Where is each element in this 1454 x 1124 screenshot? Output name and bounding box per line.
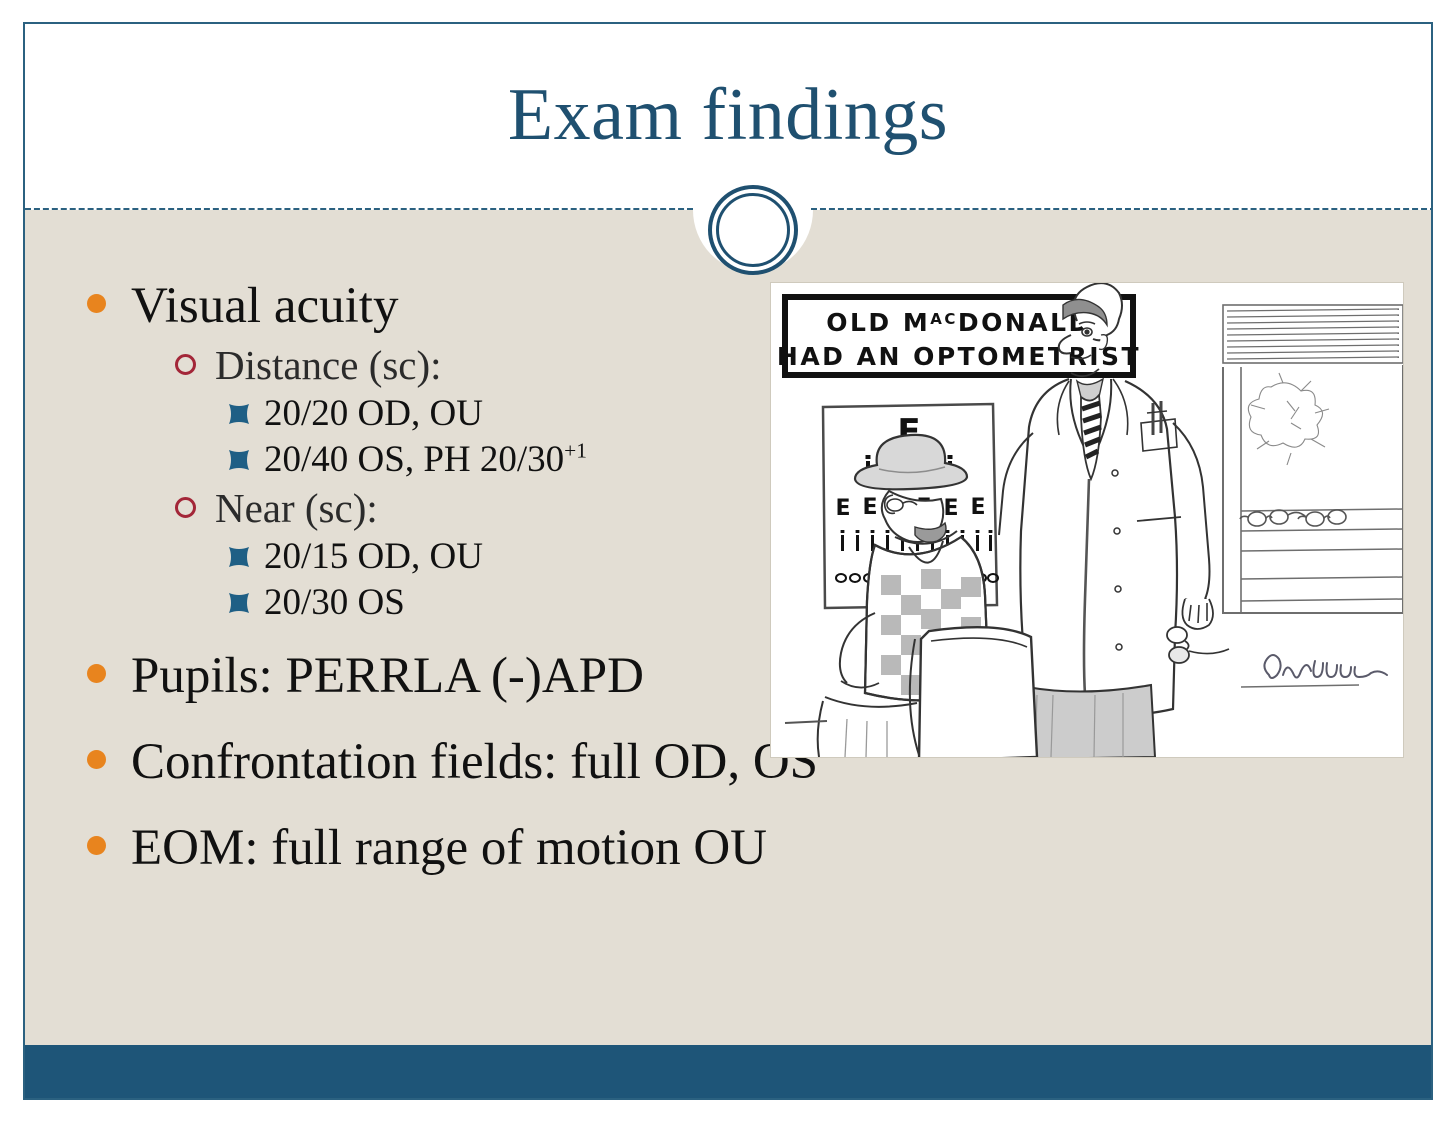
list-item: Confrontation fields: full OD, OS xyxy=(63,730,763,794)
list-item-label: 20/15 OD, OU xyxy=(63,534,763,580)
list-item: Near (sc): xyxy=(63,483,763,534)
hollow-circle-bullet-icon xyxy=(175,354,196,375)
svg-text:E: E xyxy=(835,496,850,521)
filled-disc-bullet-icon xyxy=(87,294,106,313)
list-item: Pupils: PERRLA (-)APD xyxy=(63,644,763,708)
list-item-label: Confrontation fields: full OD, OS xyxy=(63,730,763,794)
decorative-ring-inner-icon xyxy=(716,193,790,267)
four-point-star-bullet-icon xyxy=(229,450,249,470)
cartoon-image: OLD MACDONALD HAD AN OPTOMETRIST E EEE E… xyxy=(770,282,1404,758)
list-item: 20/15 OD, OU xyxy=(63,534,763,580)
list-item-label: 20/20 OD, OU xyxy=(63,391,763,437)
filled-disc-bullet-icon xyxy=(87,750,106,769)
title-zone: Exam findings xyxy=(25,24,1431,210)
four-point-star-bullet-icon xyxy=(229,547,249,567)
list-item: EOM: full range of motion OU xyxy=(63,816,763,880)
list-item: Visual acuity xyxy=(63,274,763,338)
svg-text:E: E xyxy=(970,495,985,520)
list-item: 20/40 OS, PH 20/30+1 xyxy=(63,437,763,483)
svg-text:HAD AN OPTOMETRIST: HAD AN OPTOMETRIST xyxy=(777,342,1141,371)
svg-text:E: E xyxy=(943,496,958,521)
list-item-label: Near (sc): xyxy=(63,483,763,534)
list-item-label: Pupils: PERRLA (-)APD xyxy=(63,644,763,708)
list-item: 20/20 OD, OU xyxy=(63,391,763,437)
list-item: 20/30 OS xyxy=(63,580,763,626)
list-item-label: Visual acuity xyxy=(63,274,763,338)
four-point-star-bullet-icon xyxy=(229,593,249,613)
four-point-star-bullet-icon xyxy=(229,404,249,424)
footer-accent-bar xyxy=(25,1045,1431,1098)
hollow-circle-bullet-icon xyxy=(175,497,196,518)
list-item-label: 20/30 OS xyxy=(63,580,763,626)
svg-text:OLD MACDONALD: OLD MACDONALD xyxy=(826,308,1092,337)
filled-disc-bullet-icon xyxy=(87,836,106,855)
list-item-label: EOM: full range of motion OU xyxy=(63,816,763,880)
list-item: Distance (sc): xyxy=(63,340,763,391)
filled-disc-bullet-icon xyxy=(87,664,106,683)
list-item-label: 20/40 OS, PH 20/30+1 xyxy=(63,437,763,483)
list-item-label-superscript: +1 xyxy=(564,439,587,463)
svg-text:E: E xyxy=(862,495,877,520)
list-item-label: Distance (sc): xyxy=(63,340,763,391)
list-item-label-main: 20/40 OS, PH 20/30 xyxy=(264,439,564,480)
slide: Exam findings Visual acuity Distance (sc… xyxy=(23,22,1433,1100)
page-title: Exam findings xyxy=(25,72,1431,158)
bullet-list: Visual acuity Distance (sc): 20/20 OD, O… xyxy=(63,274,763,882)
